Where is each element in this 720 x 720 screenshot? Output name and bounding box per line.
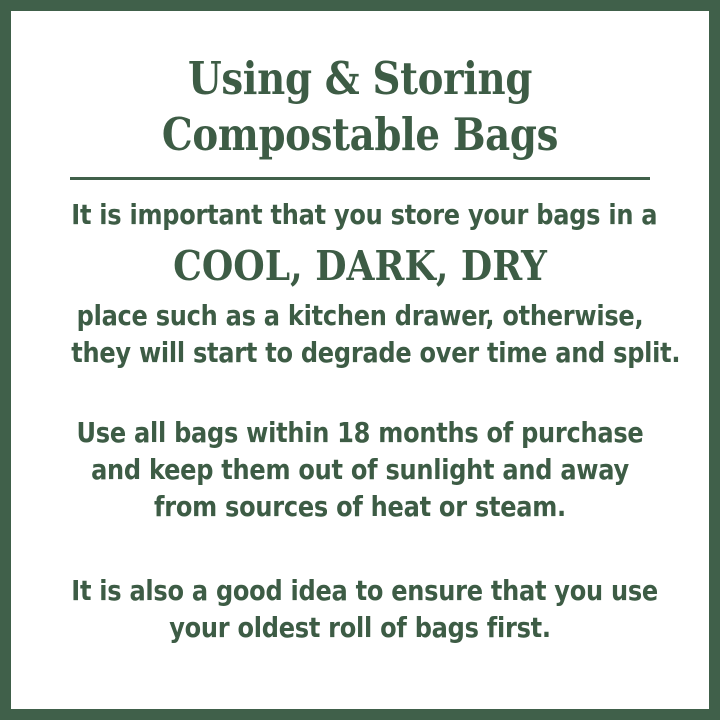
- poster-content: Using & Storing Compostable Bags It is i…: [11, 11, 709, 709]
- intro-line-1: It is important that you store your bags…: [71, 197, 649, 234]
- paragraph-emphasis: COOL, DARK, DRY: [30, 238, 690, 294]
- continuation-line-1: place such as a kitchen drawer, otherwis…: [71, 298, 649, 335]
- second-line-2: and keep them out of sunlight and away: [71, 452, 649, 489]
- poster-card: Using & Storing Compostable Bags It is i…: [0, 0, 720, 720]
- title-line-2: Compostable Bags: [85, 107, 635, 163]
- paragraph-third: It is also a good idea to ensure that yo…: [30, 573, 690, 647]
- title-line-1: Using & Storing: [85, 51, 635, 107]
- second-line-3: from sources of heat or steam.: [71, 489, 649, 526]
- third-line-1: It is also a good idea to ensure that yo…: [71, 573, 649, 610]
- title-divider: [70, 177, 650, 180]
- paragraph-continuation: place such as a kitchen drawer, otherwis…: [30, 298, 690, 372]
- second-line-1: Use all bags within 18 months of purchas…: [71, 415, 649, 452]
- paragraph-second: Use all bags within 18 months of purchas…: [30, 415, 690, 526]
- third-line-2: your oldest roll of bags first.: [71, 610, 649, 647]
- continuation-line-2: they will start to degrade over time and…: [71, 335, 649, 372]
- emphasis-line-1: COOL, DARK, DRY: [70, 238, 651, 294]
- page-title: Using & Storing Compostable Bags: [40, 51, 680, 163]
- paragraph-intro: It is important that you store your bags…: [30, 197, 690, 234]
